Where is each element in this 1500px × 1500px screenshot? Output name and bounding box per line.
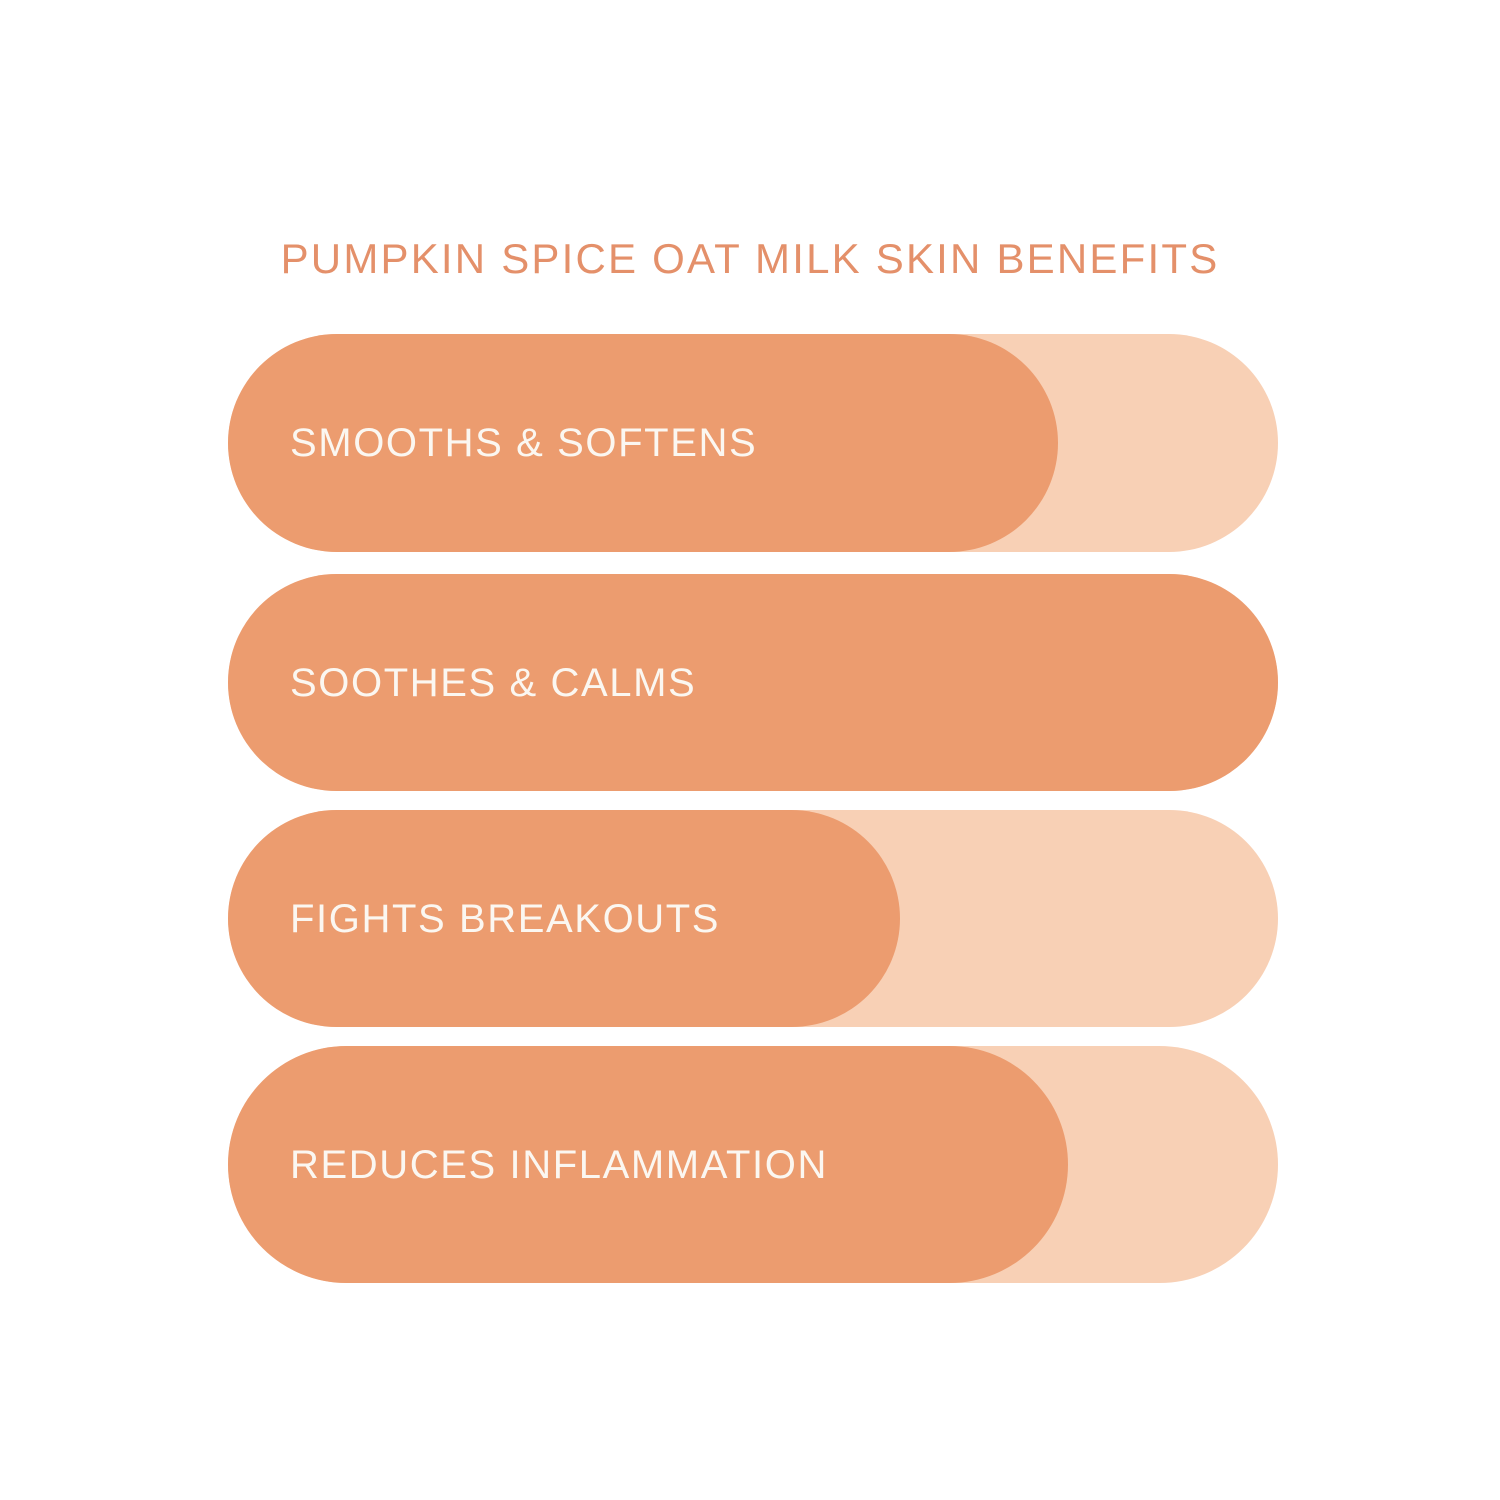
bar-row[interactable]: SMOOTHS & SOFTENS xyxy=(228,334,1278,552)
bar-fill xyxy=(228,334,1058,552)
bar-row[interactable]: REDUCES INFLAMMATION xyxy=(228,1046,1278,1283)
infographic-canvas: PUMPKIN SPICE OAT MILK SKIN BENEFITS SMO… xyxy=(0,0,1500,1500)
benefits-bar-chart: SMOOTHS & SOFTENS SOOTHES & CALMS FIGHTS… xyxy=(228,334,1278,1284)
bar-fill xyxy=(228,1046,1068,1283)
bar-fill xyxy=(228,574,1278,791)
bar-fill xyxy=(228,810,900,1027)
bar-row[interactable]: SOOTHES & CALMS xyxy=(228,574,1278,791)
page-title: PUMPKIN SPICE OAT MILK SKIN BENEFITS xyxy=(0,238,1500,280)
bar-row[interactable]: FIGHTS BREAKOUTS xyxy=(228,810,1278,1027)
